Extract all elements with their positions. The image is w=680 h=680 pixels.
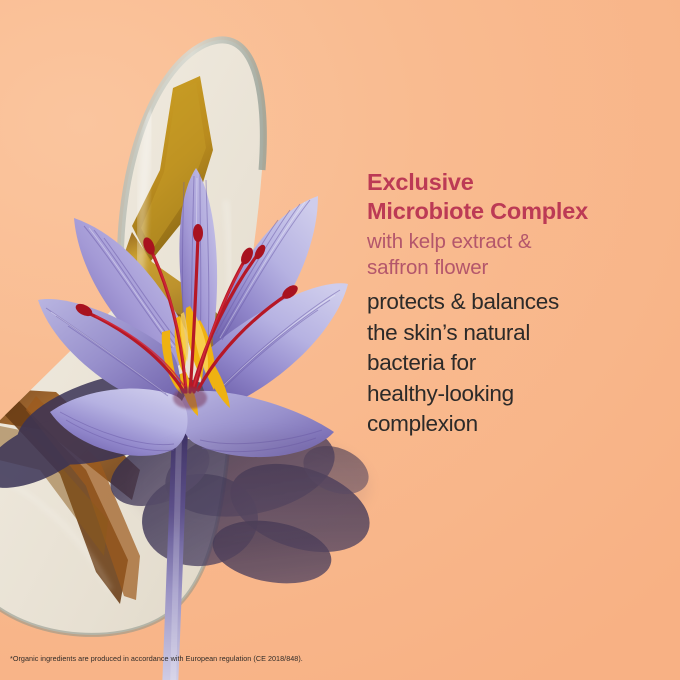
saffron-crocus-flower — [38, 168, 348, 457]
subheadline: with kelp extract & saffron flower — [367, 229, 667, 281]
headline: Exclusive Microbiote Complex — [367, 168, 667, 226]
footnote-disclaimer: *Organic ingredients are produced in acc… — [10, 654, 303, 664]
promo-graphic: Exclusive Microbiote Complex with kelp e… — [0, 0, 680, 680]
soft-ground-shadow — [130, 432, 370, 540]
body-copy: protects & balances the skin’s natural b… — [367, 287, 667, 440]
copy-block: Exclusive Microbiote Complex with kelp e… — [367, 168, 667, 440]
